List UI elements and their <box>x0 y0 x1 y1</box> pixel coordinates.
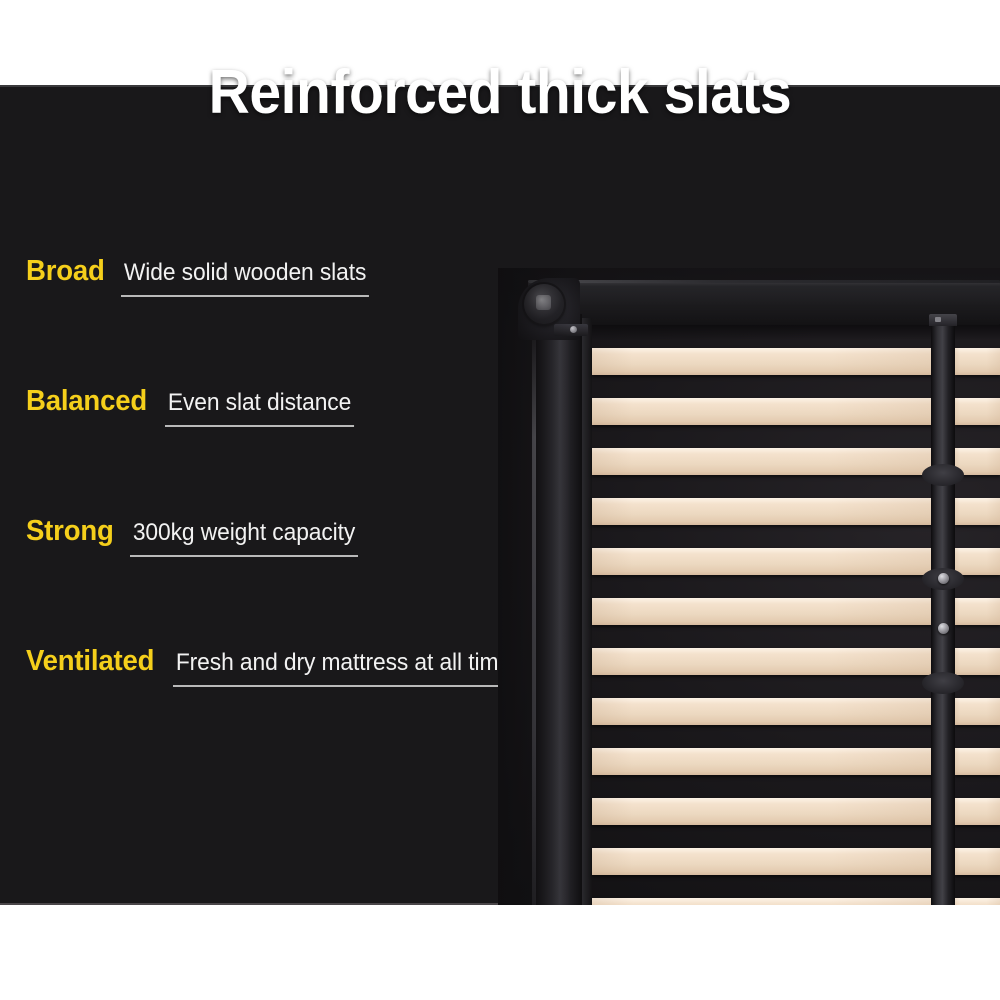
wooden-slat <box>592 398 933 425</box>
promo-banner: Reinforced thick slats Broad Wide solid … <box>0 0 1000 1000</box>
slat-grain <box>955 348 1000 375</box>
wooden-slat <box>592 598 933 625</box>
beam-top-cap <box>929 314 957 326</box>
wooden-slat <box>955 798 1000 825</box>
slat-grain <box>592 798 933 825</box>
wooden-slat <box>955 348 1000 375</box>
slat-grain <box>592 648 933 675</box>
left-side-rail-inner <box>582 318 592 905</box>
slat-grain <box>955 548 1000 575</box>
feature-key: Broad <box>26 255 105 288</box>
slat-grain <box>955 748 1000 775</box>
feature-key: Strong <box>26 515 114 548</box>
feature-item-ventilated: Ventilated Fresh and dry mattress at all… <box>26 645 566 775</box>
slat-grain <box>955 648 1000 675</box>
wooden-slat <box>592 348 933 375</box>
wooden-slat <box>955 848 1000 875</box>
left-side-rail <box>536 314 582 905</box>
corner-bracket-screw <box>570 326 577 333</box>
feature-key: Balanced <box>26 385 147 418</box>
slat-grain <box>955 398 1000 425</box>
wooden-slat <box>955 598 1000 625</box>
feature-value: 300kg weight capacity <box>130 519 358 557</box>
feature-item-balanced: Balanced Even slat distance <box>26 385 566 515</box>
slat-grain <box>592 348 933 375</box>
beam-washer <box>922 464 964 486</box>
slat-grain <box>592 848 933 875</box>
wooden-slat <box>955 548 1000 575</box>
wooden-slat <box>955 748 1000 775</box>
wooden-slat <box>592 798 933 825</box>
wooden-slat <box>955 498 1000 525</box>
wooden-slat <box>955 648 1000 675</box>
slat-grain <box>955 898 1000 905</box>
page-title: Reinforced thick slats <box>40 62 960 124</box>
product-photo-bed-frame <box>498 268 1000 905</box>
feature-value: Wide solid wooden slats <box>121 259 369 297</box>
feature-item-strong: Strong 300kg weight capacity <box>26 515 566 645</box>
wooden-slat <box>592 848 933 875</box>
center-support-beam <box>931 320 955 905</box>
wooden-slat <box>592 898 933 905</box>
slat-grain <box>592 598 933 625</box>
slat-grain <box>955 798 1000 825</box>
feature-value: Even slat distance <box>165 389 354 427</box>
wooden-slat <box>592 548 933 575</box>
wooden-slat <box>592 698 933 725</box>
wooden-slat <box>955 898 1000 905</box>
feature-value: Fresh and dry mattress at all times <box>173 649 525 687</box>
slat-grain <box>955 498 1000 525</box>
corner-bolt-icon <box>524 284 564 324</box>
left-side-rail-highlight <box>532 320 536 905</box>
beam-screw <box>938 623 949 634</box>
top-rail-highlight <box>528 280 1000 283</box>
wooden-slat <box>955 398 1000 425</box>
feature-key: Ventilated <box>26 645 154 678</box>
slat-grain <box>592 698 933 725</box>
wooden-slat <box>592 498 933 525</box>
feature-list: Broad Wide solid wooden slats Balanced E… <box>26 255 566 775</box>
beam-washer <box>922 672 964 694</box>
beam-screw <box>938 573 949 584</box>
wooden-slat <box>592 648 933 675</box>
wooden-slat <box>592 748 933 775</box>
top-rail-shadow <box>528 324 1000 340</box>
slat-grain <box>955 698 1000 725</box>
wooden-slat <box>592 448 933 475</box>
wooden-slat <box>955 698 1000 725</box>
slat-grain <box>592 898 933 905</box>
slat-grain <box>592 398 933 425</box>
feature-item-broad: Broad Wide solid wooden slats <box>26 255 566 385</box>
slat-grain <box>592 498 933 525</box>
slat-grain <box>592 448 933 475</box>
slat-grain <box>955 848 1000 875</box>
slat-grain <box>955 598 1000 625</box>
slat-grain <box>592 748 933 775</box>
slat-grain <box>592 548 933 575</box>
